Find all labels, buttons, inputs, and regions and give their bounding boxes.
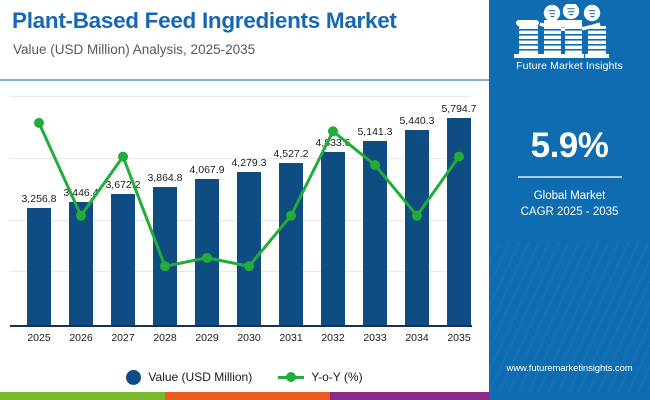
chart-infographic: Plant-Based Feed Ingredients Market Valu… <box>0 0 650 400</box>
bar-2030 <box>237 172 261 325</box>
strip-orange <box>165 392 330 400</box>
strip-purple <box>330 392 489 400</box>
plot-area: 3,256.83,446.43,672.23,864.84,067.94,279… <box>0 88 489 328</box>
bar-2032 <box>321 152 345 325</box>
yoy-point-2032 <box>328 126 338 136</box>
x-axis-line <box>10 325 472 327</box>
legend-label-yoy: Y-o-Y (%) <box>311 370 362 384</box>
bar-label-2033: 5,141.3 <box>345 126 405 138</box>
bar-2033 <box>363 141 387 325</box>
bar-label-2035: 5,794.7 <box>429 103 489 115</box>
x-tick-2035: 2035 <box>429 332 489 344</box>
x-axis-labels: 2025202620272028202920302031203220332034… <box>0 332 489 348</box>
cagr-card: 5.9% Global Market CAGR 2025 - 2035 <box>489 128 650 221</box>
cagr-line1: Global Market <box>489 188 650 205</box>
strip-green <box>0 392 165 400</box>
line-with-dot-marker-icon <box>278 371 304 383</box>
bar-2027 <box>111 194 135 325</box>
page-title: Plant-Based Feed Ingredients Market <box>12 8 397 34</box>
bar-label-2031: 4,527.2 <box>261 148 321 160</box>
filled-circle-marker-icon <box>126 370 141 385</box>
yoy-point-2025 <box>34 118 44 128</box>
site-url: www.futuremarketinsights.com <box>489 363 650 374</box>
bar-2025 <box>27 208 51 325</box>
bar-2035 <box>447 118 471 325</box>
logo-caption: Future Market Insights <box>489 60 650 72</box>
header-divider <box>0 79 489 81</box>
cagr-divider <box>518 176 622 178</box>
strip-blue <box>489 392 650 400</box>
legend-label-value: Value (USD Million) <box>148 370 252 384</box>
cagr-line2: CAGR 2025 - 2035 <box>489 204 650 221</box>
chart-legend: Value (USD Million) Y-o-Y (%) <box>0 366 489 388</box>
bar-2026 <box>69 202 93 325</box>
bar-2028 <box>153 187 177 325</box>
legend-item-value: Value (USD Million) <box>126 370 252 385</box>
cagr-value: 5.9% <box>489 128 650 165</box>
logo-container: Future Market Insights <box>489 4 650 76</box>
brand-sidebar: Future Market Insights 5.9% Global Marke… <box>489 0 650 392</box>
bar-2031 <box>279 163 303 325</box>
chart-panel: Plant-Based Feed Ingredients Market Valu… <box>0 0 489 392</box>
yoy-point-2027 <box>118 152 128 162</box>
fmi-logo-icon <box>510 4 630 60</box>
page-subtitle: Value (USD Million) Analysis, 2025-2035 <box>13 42 255 57</box>
legend-item-yoy: Y-o-Y (%) <box>278 370 362 384</box>
bar-2034 <box>405 130 429 325</box>
bar-label-2032: 4,833.6 <box>303 137 363 149</box>
bottom-color-strip <box>0 392 650 400</box>
bar-2029 <box>195 179 219 325</box>
gridline <box>10 96 470 97</box>
bar-label-2034: 5,440.3 <box>387 115 447 127</box>
